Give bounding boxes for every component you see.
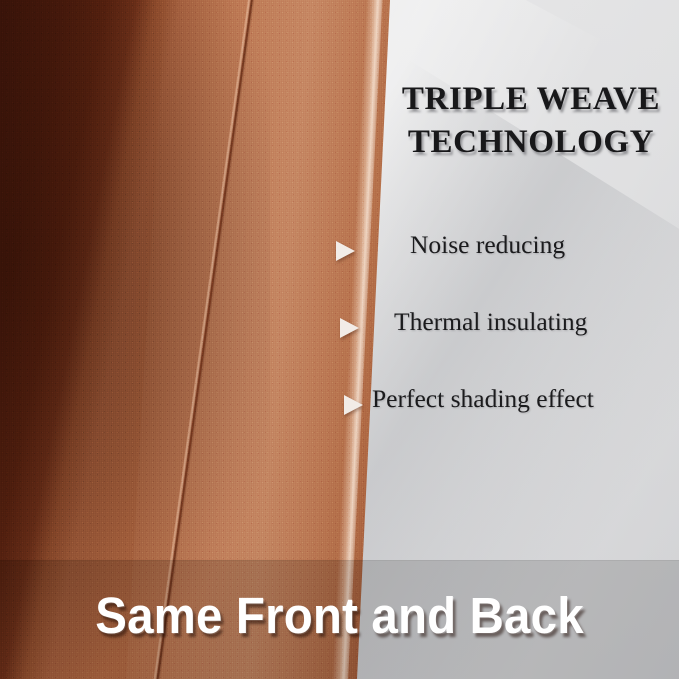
feature-label: Noise reducing <box>410 232 565 258</box>
feature-item: Perfect shading effect <box>336 386 679 463</box>
product-feature-image: TRIPLE WEAVE TECHNOLOGY Noise reducing T… <box>0 0 679 679</box>
feature-item: Thermal insulating <box>336 309 679 386</box>
feature-list: Noise reducing Thermal insulating Perfec… <box>336 232 679 463</box>
headline-line-2: TECHNOLOGY <box>386 121 676 164</box>
feature-item: Noise reducing <box>336 232 679 309</box>
banner-text: Same Front and Back <box>24 586 655 645</box>
headline-line-1: TRIPLE WEAVE <box>402 81 660 117</box>
bottom-band-divider <box>0 560 679 561</box>
triangle-right-icon <box>336 241 355 261</box>
feature-label: Perfect shading effect <box>372 386 594 412</box>
triangle-right-icon <box>344 395 363 415</box>
headline: TRIPLE WEAVE TECHNOLOGY <box>386 78 676 164</box>
triangle-right-icon <box>340 318 359 338</box>
feature-label: Thermal insulating <box>394 309 587 335</box>
